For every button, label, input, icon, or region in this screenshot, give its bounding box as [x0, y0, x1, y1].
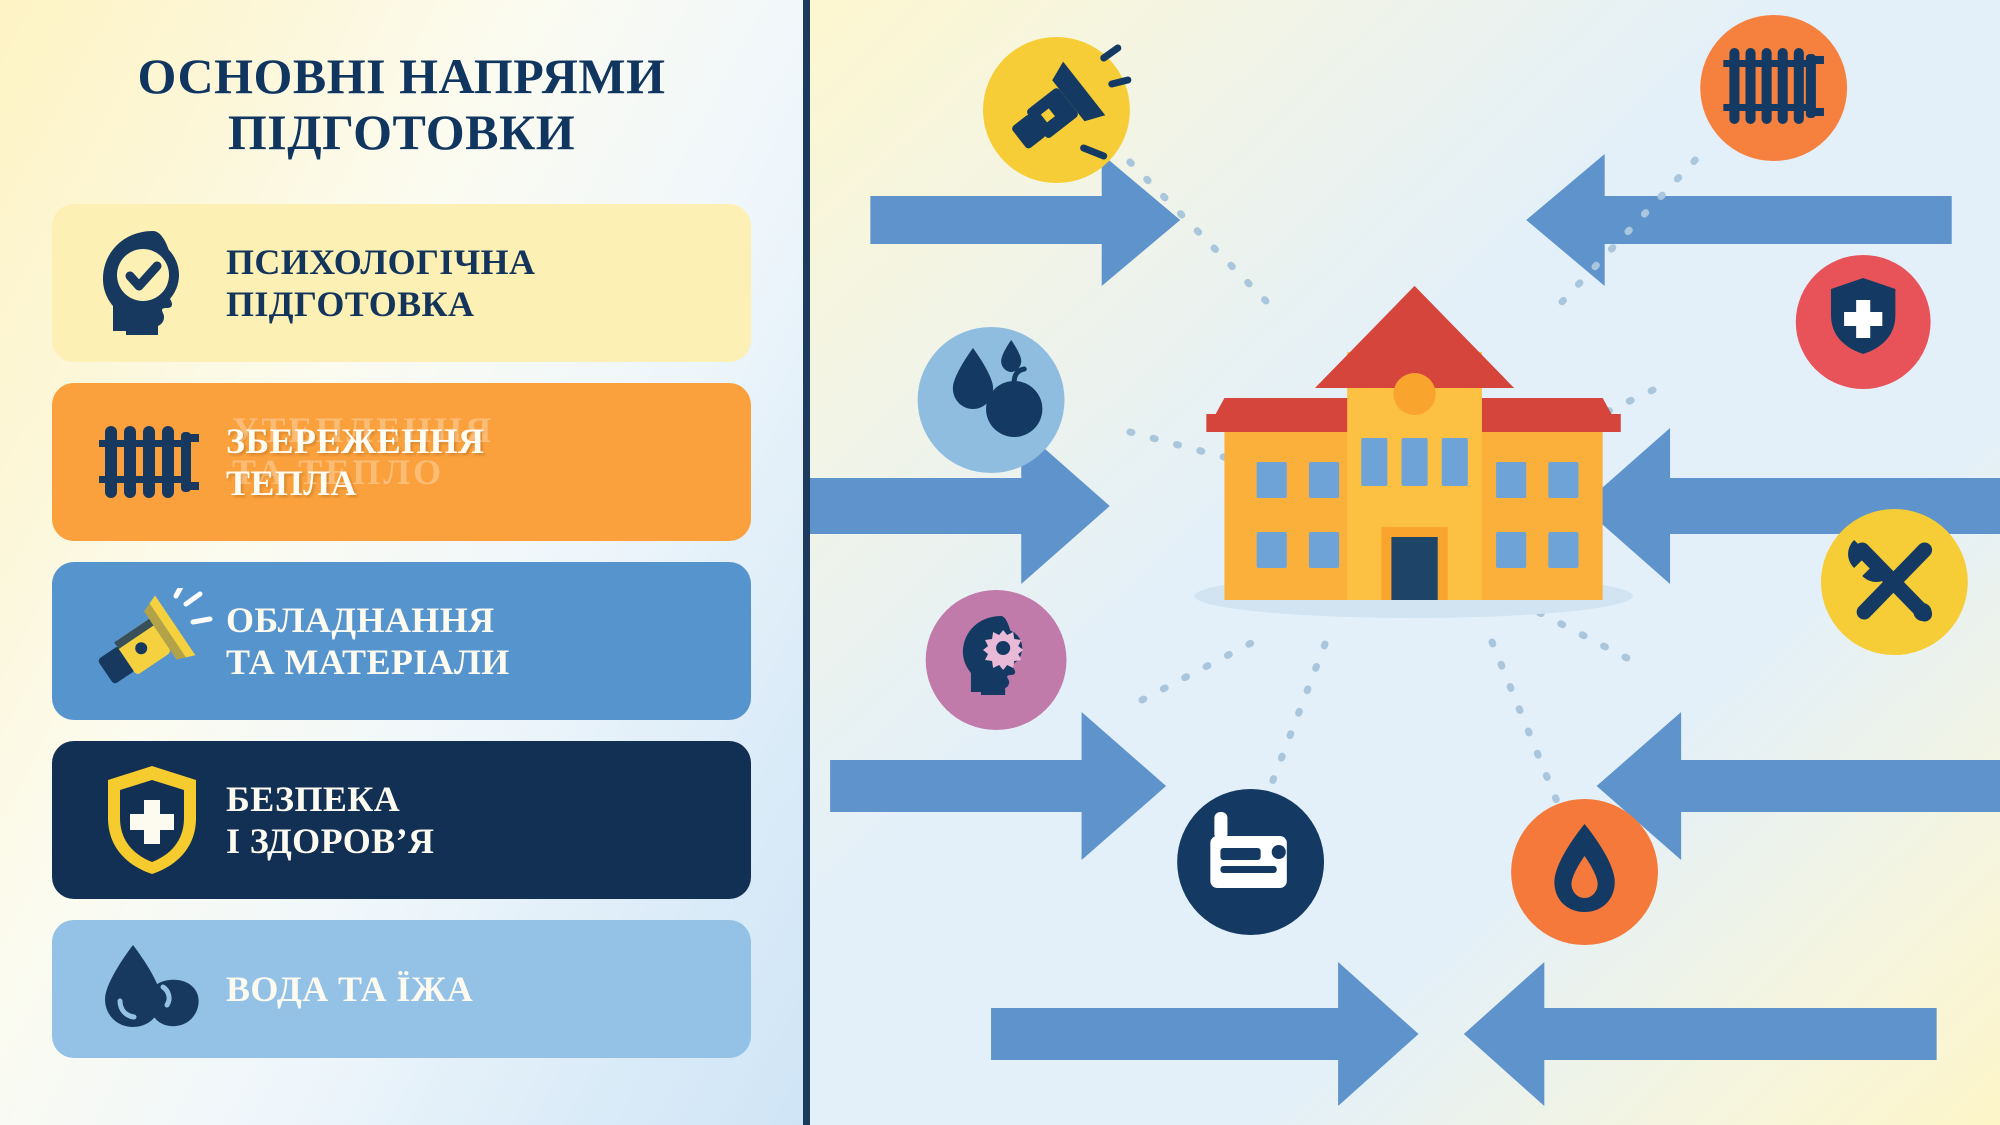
list-item-equipment-materials[interactable]: ОБЛАДНАННЯ ТА МАТЕРІАЛИ [52, 562, 751, 720]
list-item-label: ЗБЕРЕЖЕННЯ ТЕПЛА [218, 420, 731, 504]
infographic-page: ОСНОВНІ НАПРЯМИ ПІДГОТОВКИ ПСИХОЛОГІЧНА … [0, 0, 2000, 1125]
page-title-line-2: ПІДГОТОВКИ [52, 104, 751, 160]
page-title-line-1: ОСНОВНІ НАПРЯМИ [52, 48, 751, 104]
school-preparedness-diagram [810, 0, 2000, 1125]
node-first-aid [1796, 255, 1931, 389]
preparation-areas-list: ПСИХОЛОГІЧНА ПІДГОТОВКА [52, 204, 751, 1058]
list-item-label: ПСИХОЛОГІЧНА ПІДГОТОВКА [218, 241, 731, 325]
list-item-heat-preservation[interactable]: УТЕПЛЕННЯ ТА ТЕПЛО ЗБЕРЕЖЕННЯ ТЕПЛА [52, 383, 751, 541]
node-psychology [926, 590, 1067, 730]
node-flashlight [983, 37, 1130, 183]
radiator-icon [86, 403, 218, 521]
shield-cross-icon [86, 761, 218, 879]
diagram-panel [810, 0, 2000, 1125]
left-panel: ОСНОВНІ НАПРЯМИ ПІДГОТОВКИ ПСИХОЛОГІЧНА … [0, 0, 810, 1125]
list-item-psychological-preparation[interactable]: ПСИХОЛОГІЧНА ПІДГОТОВКА [52, 204, 751, 362]
list-item-label: ВОДА ТА ЇЖА [218, 968, 731, 1010]
node-water-food [918, 327, 1065, 473]
head-check-icon [86, 224, 218, 342]
node-gas-flame [1511, 799, 1658, 945]
flashlight-icon [86, 582, 218, 700]
node-radio [1177, 789, 1324, 935]
list-item-label: ОБЛАДНАННЯ ТА МАТЕРІАЛИ [218, 599, 731, 683]
node-tools [1821, 509, 1968, 655]
list-item-safety-health[interactable]: БЕЗПЕКА І ЗДОРОВ’Я [52, 741, 751, 899]
water-food-icon [86, 930, 218, 1048]
list-item-water-food[interactable]: ВОДА ТА ЇЖА [52, 920, 751, 1058]
page-title: ОСНОВНІ НАПРЯМИ ПІДГОТОВКИ [52, 48, 751, 160]
node-radiator [1700, 15, 1847, 161]
list-item-label: БЕЗПЕКА І ЗДОРОВ’Я [218, 778, 731, 862]
